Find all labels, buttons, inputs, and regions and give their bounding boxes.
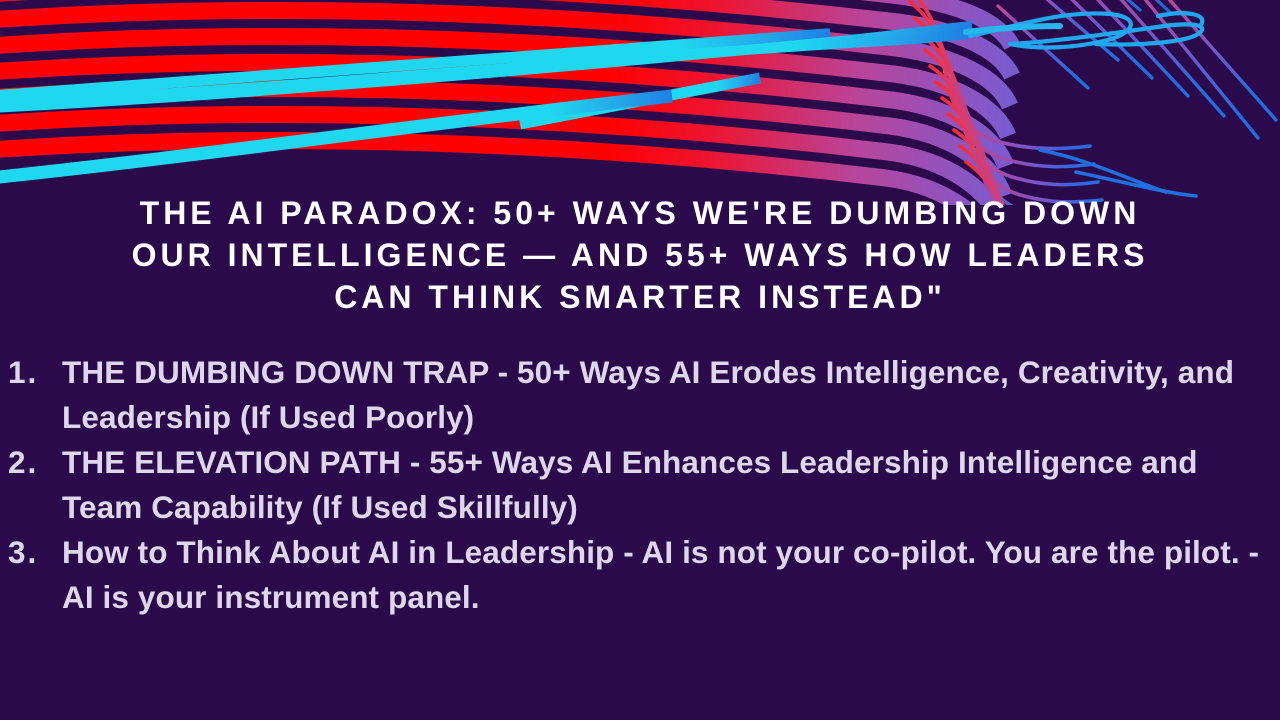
slide-body-list: 1. THE DUMBING DOWN TRAP - 50+ Ways AI E… xyxy=(8,350,1272,620)
title-line-1: THE AI PARADOX: 50+ WAYS WE'RE DUMBING D… xyxy=(40,192,1240,234)
list-item-marker: 3. xyxy=(8,530,62,575)
title-line-2: OUR INTELLIGENCE — AND 55+ WAYS HOW LEAD… xyxy=(40,234,1240,276)
title-line-3: CAN THINK SMARTER INSTEAD" xyxy=(40,276,1240,318)
slide-title: THE AI PARADOX: 50+ WAYS WE'RE DUMBING D… xyxy=(40,192,1240,318)
list-item: 2. THE ELEVATION PATH - 55+ Ways AI Enha… xyxy=(8,440,1272,530)
wave-banner-graphic xyxy=(0,0,1280,205)
list-item-marker: 2. xyxy=(8,440,62,485)
slide-canvas: THE AI PARADOX: 50+ WAYS WE'RE DUMBING D… xyxy=(0,0,1280,720)
list-item-marker: 1. xyxy=(8,350,62,395)
list-item-text: How to Think About AI in Leadership - AI… xyxy=(62,530,1272,620)
wave-banner-svg xyxy=(0,0,1280,205)
list-item-text: THE ELEVATION PATH - 55+ Ways AI Enhance… xyxy=(62,440,1272,530)
list-item-text: THE DUMBING DOWN TRAP - 50+ Ways AI Erod… xyxy=(62,350,1272,440)
list-item: 1. THE DUMBING DOWN TRAP - 50+ Ways AI E… xyxy=(8,350,1272,440)
list-item: 3. How to Think About AI in Leadership -… xyxy=(8,530,1272,620)
